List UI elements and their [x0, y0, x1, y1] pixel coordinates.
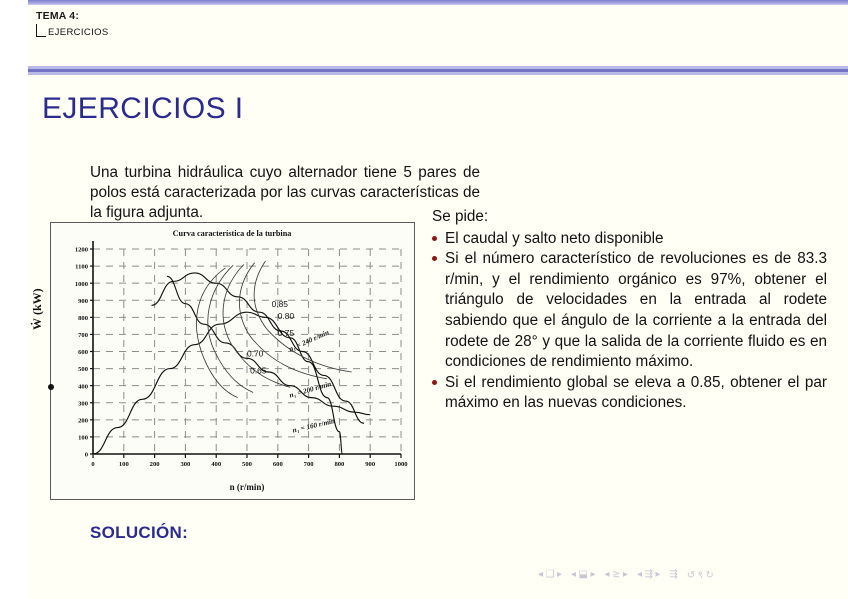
x-tick-label: 100 [119, 461, 130, 468]
breadcrumb: TEMA 4: EJERCICIOS [36, 10, 109, 38]
efficiency-label: 0.85 [272, 299, 289, 309]
y-tick-label: 400 [78, 383, 89, 390]
series-label: n₁ = 200 r/min [288, 380, 332, 400]
chart-title: Curva característica de la turbina [173, 229, 292, 238]
bullet-dot-icon [432, 256, 437, 261]
list-item: El caudal y salto neto disponible [432, 229, 827, 250]
y-tick-label: 800 [78, 315, 89, 322]
y-tick-label: 600 [78, 349, 89, 356]
elbow-icon [36, 24, 46, 37]
x-tick-label: 800 [334, 461, 345, 468]
nav-frame-icon[interactable]: ◂ ⬓ ▸ [571, 569, 596, 580]
y-tick-label: 0 [85, 452, 89, 459]
nav-presentation-icon[interactable]: ⇶ [669, 569, 677, 580]
breadcrumb-section[interactable]: TEMA 4: [36, 10, 109, 22]
y-tick-label: 1000 [75, 281, 89, 288]
page-title: EJERCICIOS I [42, 92, 244, 126]
x-tick-label: 700 [304, 461, 315, 468]
x-tick-label: 300 [180, 461, 191, 468]
list-item: Si el rendimiento global se eleva a 0.85… [432, 373, 827, 414]
slide-canvas: TEMA 4: EJERCICIOS EJERCICIOS I Una turb… [28, 0, 848, 599]
solution-heading: SOLUCIÓN: [90, 523, 188, 543]
x-tick-label: 1000 [394, 461, 408, 468]
x-tick-label: 0 [91, 461, 95, 468]
efficiency-label: 0.65 [250, 366, 267, 376]
y-tick-label: 900 [78, 298, 89, 305]
efficiency-label: 0.70 [247, 349, 264, 359]
y-tick-label: 100 [78, 435, 89, 442]
list-item: Si el número característico de revolucio… [432, 249, 827, 373]
requirements-list: Se pide: El caudal y salto neto disponib… [432, 207, 827, 414]
list-item-text: Si el rendimiento global se eleva a 0.85… [445, 374, 827, 412]
x-tick-label: 200 [150, 461, 161, 468]
nav-slide-icon[interactable]: ◂ ❑ ▸ [538, 569, 562, 580]
turbine-chart: Curva característica de la turbina010020… [51, 223, 413, 498]
efficiency-contour [208, 265, 253, 392]
y-tick-label: 1100 [75, 264, 89, 271]
y-tick-label: 500 [78, 366, 89, 373]
curve-n1-160-r-min [93, 312, 342, 454]
header-separator [28, 66, 848, 76]
problem-statement: Una turbina hidráulica cuyo alternador t… [90, 163, 480, 223]
x-tick-label: 900 [365, 461, 376, 468]
x-axis-title: n (r/min) [230, 482, 265, 492]
x-tick-label: 500 [242, 461, 253, 468]
beamer-navigation-bar[interactable]: ◂ ❑ ▸ ◂ ⬓ ▸ ◂ ≳ ▸ ◂ ⇶ ▸ ⇶ ↺ ९ ↻ [538, 566, 838, 582]
y-axis-dot-marker [48, 384, 54, 390]
nav-subsection-icon[interactable]: ◂ ≳ ▸ [605, 569, 628, 580]
efficiency-contour [254, 261, 352, 372]
bullet-dot-icon [432, 380, 437, 385]
list-item-text: El caudal y salto neto disponible [445, 230, 664, 247]
bullet-dot-icon [432, 236, 437, 241]
nav-back-forward-icon[interactable]: ↺ ९ ↻ [687, 567, 714, 581]
y-tick-label: 200 [78, 417, 89, 424]
x-tick-label: 600 [273, 461, 284, 468]
efficiency-contour [196, 268, 237, 398]
y-tick-label: 1200 [75, 247, 89, 254]
y-axis-label: Ẇ (kW) [30, 288, 45, 330]
efficiency-label: 0.75 [278, 328, 295, 338]
breadcrumb-subsection[interactable]: EJERCICIOS [48, 27, 109, 38]
x-tick-label: 400 [211, 461, 222, 468]
y-tick-label: 700 [78, 332, 89, 339]
top-rule [28, 0, 848, 5]
requirements-lead: Se pide: [432, 207, 827, 228]
efficiency-label: 0.80 [278, 311, 295, 321]
y-tick-label: 300 [78, 400, 89, 407]
nav-section-icon[interactable]: ◂ ⇶ ▸ [637, 569, 660, 580]
series-label: n₁ = 160 r/min [292, 417, 336, 435]
turbine-characteristic-figure: Curva característica de la turbina010020… [50, 222, 415, 500]
list-item-text: Si el número característico de revolucio… [445, 250, 827, 370]
